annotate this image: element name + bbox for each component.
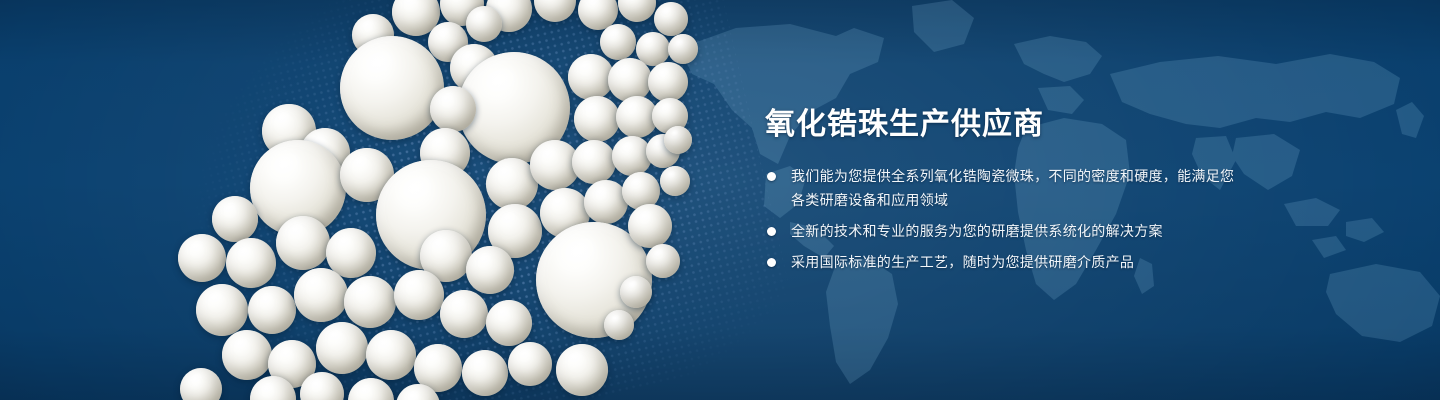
banner-content: 氧化锆珠生产供应商 我们能为您提供全系列氧化锆陶瓷微珠，不同的密度和硬度，能满足… [765,108,1235,274]
bullet-circle-icon [767,258,776,267]
list-item-label: 采用国际标准的生产工艺，随时为您提供研磨介质产品 [791,254,1134,270]
list-item-label: 我们能为您提供全系列氧化锆陶瓷微珠，不同的密度和硬度，能满足您各类研磨设备和应用… [791,168,1234,208]
feature-bullet-list: 我们能为您提供全系列氧化锆陶瓷微珠，不同的密度和硬度，能满足您各类研磨设备和应用… [765,164,1235,274]
bullet-circle-icon [767,227,776,236]
hero-banner: 氧化锆珠生产供应商 我们能为您提供全系列氧化锆陶瓷微珠，不同的密度和硬度，能满足… [0,0,1440,400]
list-item: 全新的技术和专业的服务为您的研磨提供系统化的解决方案 [765,219,1235,243]
list-item-label: 全新的技术和专业的服务为您的研磨提供系统化的解决方案 [791,223,1163,239]
page-title: 氧化锆珠生产供应商 [765,108,1235,142]
list-item: 采用国际标准的生产工艺，随时为您提供研磨介质产品 [765,250,1235,274]
list-item: 我们能为您提供全系列氧化锆陶瓷微珠，不同的密度和硬度，能满足您各类研磨设备和应用… [765,164,1235,212]
bullet-circle-icon [767,172,776,181]
